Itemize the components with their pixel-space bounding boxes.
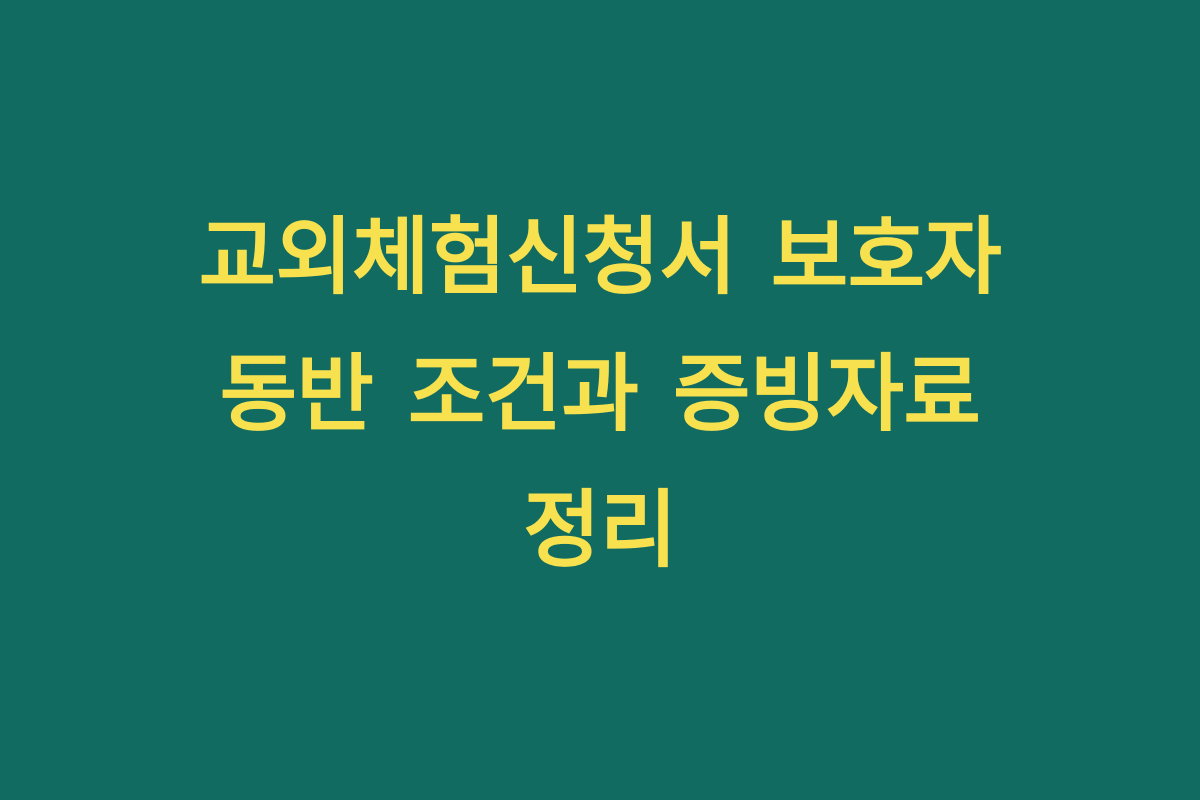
headline-block: 교외체험신청서 보호자 동반 조건과 증빙자료 정리 (95, 189, 1105, 600)
page-title: 교외체험신청서 보호자 동반 조건과 증빙자료 정리 (95, 189, 1105, 600)
title-card: 교외체험신청서 보호자 동반 조건과 증빙자료 정리 (0, 0, 1200, 800)
